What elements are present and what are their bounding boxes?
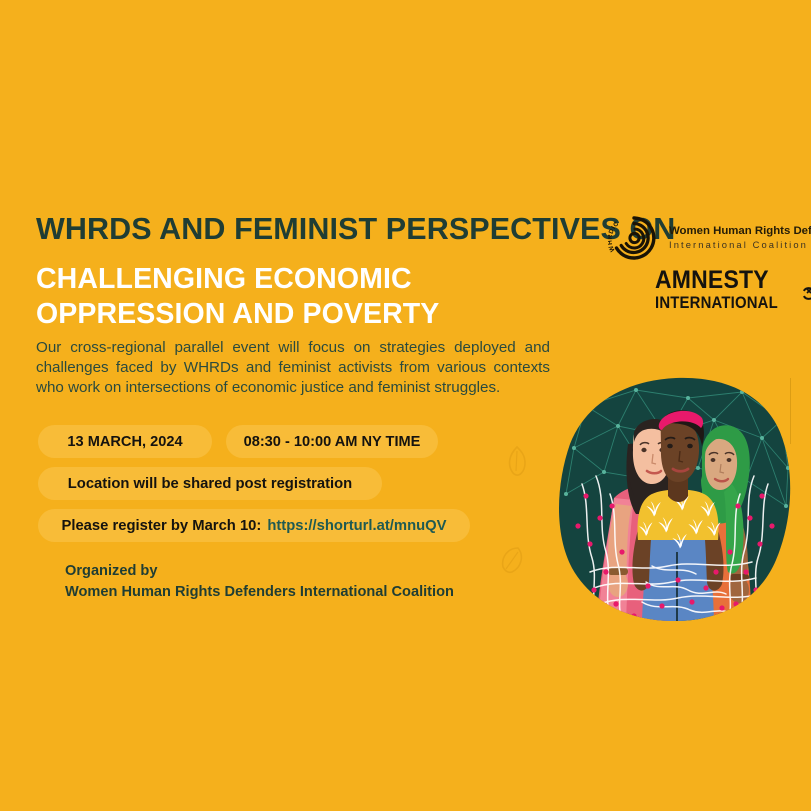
whrd-title: Women Human Rights Defenders [669, 225, 811, 238]
registration-badge[interactable]: Please register by March 10: https://sho… [38, 509, 470, 542]
svg-text:WHRDIC: WHRDIC [608, 220, 621, 253]
illustration-three-women [556, 376, 794, 622]
leaf-watermark-icon [505, 445, 529, 484]
organizer-block: Organized by Women Human Rights Defender… [65, 561, 454, 602]
time-text: 08:30 - 10:00 AM NY TIME [244, 434, 421, 450]
headline-line-2a: CHALLENGING ECONOMIC [36, 262, 581, 297]
headline-block: WHRDS AND FEMINIST PERSPECTIVES ON CHALL… [36, 212, 581, 332]
poster-canvas: WHRDS AND FEMINIST PERSPECTIVES ON CHALL… [0, 0, 811, 811]
whrd-spiral-icon: WHRDIC [608, 212, 660, 264]
registration-label: Please register by March 10: [61, 518, 261, 534]
location-badge: Location will be shared post registratio… [38, 467, 382, 500]
organizer-name: Women Human Rights Defenders Internation… [65, 582, 454, 603]
date-text: 13 MARCH, 2024 [67, 434, 182, 450]
leaf-watermark-icon-2 [500, 545, 526, 580]
time-badge: 08:30 - 10:00 AM NY TIME [226, 425, 438, 458]
amnesty-logo: AMNESTY INTERNATIONAL [655, 266, 811, 314]
amnesty-line-2: INTERNATIONAL [655, 294, 778, 312]
whrd-logo: WHRDIC Women Human Rights Defenders Inte… [608, 212, 811, 264]
amnesty-line-1: AMNESTY [655, 268, 778, 294]
amnesty-candle-icon [801, 266, 811, 314]
headline-line-1: WHRDS AND FEMINIST PERSPECTIVES ON [36, 212, 581, 248]
headline-line-2: CHALLENGING ECONOMIC OPPRESSION AND POVE… [36, 262, 581, 332]
body-paragraph: Our cross-regional parallel event will f… [36, 338, 550, 399]
headline-line-2b: OPPRESSION AND POVERTY [36, 297, 581, 332]
location-text: Location will be shared post registratio… [68, 476, 352, 492]
whrd-logo-text: Women Human Rights Defenders Internation… [669, 225, 811, 251]
registration-link[interactable]: https://shorturl.at/mnuQV [267, 518, 446, 534]
organizer-label: Organized by [65, 561, 454, 582]
date-badge: 13 MARCH, 2024 [38, 425, 212, 458]
whrd-subtitle: International Coalition [669, 239, 811, 251]
amnesty-logo-text: AMNESTY INTERNATIONAL [655, 268, 789, 312]
